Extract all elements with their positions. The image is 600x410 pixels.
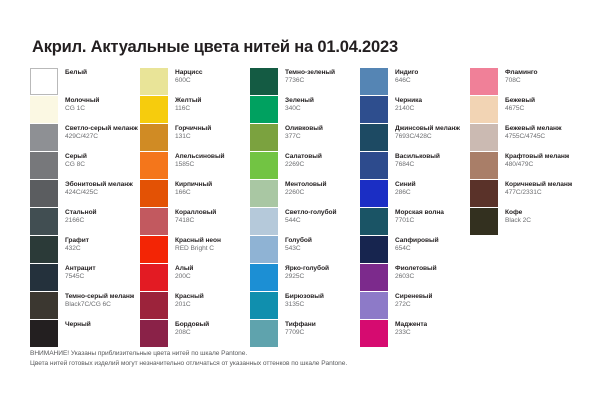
swatch-labels: Синий 286C <box>388 180 416 198</box>
swatch-row: Индиго 646C <box>360 68 470 96</box>
swatch-row: Бежевый 4675C <box>470 96 588 124</box>
color-name: Молочный <box>65 97 99 105</box>
swatch-labels: Морская волна 7701C <box>388 208 444 226</box>
swatch-row: Ментоловый 2260C <box>250 180 360 208</box>
swatch-row: Черника 2140C <box>360 96 470 124</box>
color-code: 2925C <box>285 273 329 281</box>
color-code: 654C <box>395 245 439 253</box>
color-name: Крафтовый меланж <box>505 153 569 161</box>
color-name: Серый <box>65 153 87 161</box>
color-code: 4755C/4745C <box>505 133 562 141</box>
color-code: 432C <box>65 245 89 253</box>
color-chip <box>470 96 498 123</box>
color-code: 424C/425C <box>65 189 133 197</box>
color-name: Коралловый <box>175 209 216 217</box>
swatch-labels: Коралловый 7418C <box>168 208 216 226</box>
swatch-row: Синий 286C <box>360 180 470 208</box>
color-code: 166C <box>175 189 212 197</box>
color-name: Желтый <box>175 97 201 105</box>
color-name: Зеленый <box>285 97 314 105</box>
swatch-labels: Сапфировый 654C <box>388 236 439 254</box>
swatch-labels: Молочный CG 1C <box>58 96 99 114</box>
color-chip <box>250 264 278 291</box>
color-code: 201C <box>175 301 204 309</box>
swatch-labels: Кофе Black 2C <box>498 208 531 226</box>
swatch-row: Эбонитовый меланж 424C/425C <box>30 180 140 208</box>
color-chip <box>360 320 388 347</box>
swatch-labels: Желтый 116C <box>168 96 201 114</box>
color-chip <box>360 208 388 235</box>
color-code: 480/479C <box>505 161 569 169</box>
color-chip <box>360 124 388 151</box>
swatch-row: Кирпичный 166C <box>140 180 250 208</box>
swatch-labels: Апельсиновый 1585C <box>168 152 225 170</box>
color-name: Горчичный <box>175 125 211 133</box>
swatch-row: Бирюзовый 3135C <box>250 292 360 320</box>
swatch-labels: Горчичный 131C <box>168 124 211 142</box>
swatch-labels: Ярко-голубой 2925C <box>278 264 329 282</box>
color-chip <box>140 208 168 235</box>
swatch-row: Маджента 233C <box>360 320 470 348</box>
color-code: 340C <box>285 105 314 113</box>
color-name: Салатовый <box>285 153 322 161</box>
swatch-row: Желтый 116C <box>140 96 250 124</box>
color-chip <box>360 68 388 95</box>
color-name: Белый <box>65 69 87 77</box>
swatch-labels: Коричневый меланж 477C/2331C <box>498 180 572 198</box>
color-name: Бордовый <box>175 321 209 329</box>
color-code: 477C/2331C <box>505 189 572 197</box>
color-chip <box>360 264 388 291</box>
swatch-labels: Стальной 2166C <box>58 208 97 226</box>
swatch-labels: Бежевый меланж 4755C/4745C <box>498 124 562 142</box>
color-code: 208C <box>175 329 209 337</box>
color-chip <box>250 236 278 263</box>
color-chip <box>250 124 278 151</box>
color-name: Маджента <box>395 321 427 329</box>
color-code: 7736C <box>285 77 335 85</box>
color-name: Бирюзовый <box>285 293 324 301</box>
color-name: Ярко-голубой <box>285 265 329 273</box>
color-chip <box>250 208 278 235</box>
swatch-row: Коричневый меланж 477C/2331C <box>470 180 588 208</box>
color-name: Индиго <box>395 69 418 77</box>
swatch-labels: Зеленый 340C <box>278 96 314 114</box>
swatch-labels: Крафтовый меланж 480/479C <box>498 152 569 170</box>
color-name: Бежевый меланж <box>505 125 562 133</box>
swatch-column-warm: Нарцисс 600C Желтый 116C Горчичный 131C <box>140 68 250 348</box>
swatch-labels: Бордовый 208C <box>168 320 209 338</box>
color-name: Джинсовый меланж <box>395 125 460 133</box>
color-chip <box>140 96 168 123</box>
color-chart-page: Акрил. Актуальные цвета нитей на 01.04.2… <box>0 0 600 410</box>
color-chip <box>250 152 278 179</box>
color-chip <box>140 320 168 347</box>
color-code: 1585C <box>175 161 225 169</box>
swatch-row: Молочный CG 1C <box>30 96 140 124</box>
color-chip <box>30 68 58 95</box>
color-chip <box>470 208 498 235</box>
swatch-labels: Маджента 233C <box>388 320 427 338</box>
color-code: Black 2C <box>505 217 531 225</box>
color-chip <box>360 152 388 179</box>
color-chip <box>30 320 58 347</box>
color-name: Голубой <box>285 237 312 245</box>
color-chip <box>140 152 168 179</box>
swatch-row: Сиреневый 272C <box>360 292 470 320</box>
color-chip <box>470 180 498 207</box>
color-chip <box>140 292 168 319</box>
swatch-row: Алый 200C <box>140 264 250 292</box>
swatch-labels: Бежевый 4675C <box>498 96 535 114</box>
color-name: Бежевый <box>505 97 535 105</box>
color-code: 708C <box>505 77 538 85</box>
color-code: 116C <box>175 105 201 113</box>
swatch-row: Коралловый 7418C <box>140 208 250 236</box>
color-code: 7701C <box>395 217 444 225</box>
swatch-row: Зеленый 340C <box>250 96 360 124</box>
color-name: Синий <box>395 181 416 189</box>
swatch-labels: Темно-серый меланж Black7C/CG 6C <box>58 292 134 310</box>
color-name: Кофе <box>505 209 531 217</box>
color-name: Сапфировый <box>395 237 439 245</box>
color-name: Кирпичный <box>175 181 212 189</box>
swatch-labels: Тиффани 7709C <box>278 320 316 338</box>
swatch-row: Апельсиновый 1585C <box>140 152 250 180</box>
swatch-labels: Графит 432C <box>58 236 89 254</box>
color-chip <box>140 180 168 207</box>
swatch-row: Серый CG 8C <box>30 152 140 180</box>
color-name: Алый <box>175 265 193 273</box>
color-chip <box>250 180 278 207</box>
color-name: Графит <box>65 237 89 245</box>
swatch-labels: Ментоловый 2260C <box>278 180 327 198</box>
swatch-labels: Салатовый 2269C <box>278 152 322 170</box>
swatch-row: Антрацит 7545C <box>30 264 140 292</box>
color-code: 4675C <box>505 105 535 113</box>
swatch-labels: Васильковый 7684C <box>388 152 440 170</box>
swatch-row: Горчичный 131C <box>140 124 250 152</box>
swatch-labels: Светло-серый меланж 429C/427C <box>58 124 138 142</box>
swatch-row: Фламинго 708C <box>470 68 588 96</box>
color-code: 2269C <box>285 161 322 169</box>
swatch-row: Голубой 543C <box>250 236 360 264</box>
color-name: Морская волна <box>395 209 444 217</box>
color-name: Стальной <box>65 209 97 217</box>
swatch-labels: Фламинго 708C <box>498 68 538 86</box>
color-code: 3135C <box>285 301 324 309</box>
color-chip <box>30 208 58 235</box>
swatch-labels: Фиолетовый 2603C <box>388 264 437 282</box>
color-chip <box>30 292 58 319</box>
color-code: Black7C/CG 6C <box>65 301 134 309</box>
color-chip <box>140 124 168 151</box>
color-chip <box>360 236 388 263</box>
swatch-row: Светло-голубой 544C <box>250 208 360 236</box>
color-code: 543C <box>285 245 312 253</box>
color-chip <box>470 152 498 179</box>
swatch-column-greens: Темно-зеленый 7736C Зеленый 340C Оливков… <box>250 68 360 348</box>
color-chip <box>250 68 278 95</box>
color-chip <box>470 124 498 151</box>
color-code: 233C <box>395 329 427 337</box>
color-name: Светло-серый меланж <box>65 125 138 133</box>
color-name: Коричневый меланж <box>505 181 572 189</box>
swatch-labels: Голубой 543C <box>278 236 312 254</box>
color-code: 544C <box>285 217 337 225</box>
color-chip <box>30 152 58 179</box>
swatch-labels: Кирпичный 166C <box>168 180 212 198</box>
swatch-row: Салатовый 2269C <box>250 152 360 180</box>
swatch-labels: Черника 2140C <box>388 96 422 114</box>
color-code: 377C <box>285 133 323 141</box>
swatch-labels: Красный неон RED Bright C <box>168 236 221 254</box>
color-code: 7693C/428C <box>395 133 460 141</box>
swatch-row: Фиолетовый 2603C <box>360 264 470 292</box>
swatch-row: Красный неон RED Bright C <box>140 236 250 264</box>
disclaimer-line-1: ВНИМАНИЕ! Указаны приблизительные цвета … <box>30 349 347 359</box>
color-code: 2603C <box>395 273 437 281</box>
swatch-row: Морская волна 7701C <box>360 208 470 236</box>
color-code: 286C <box>395 189 416 197</box>
color-code: 7545C <box>65 273 96 281</box>
swatch-row: Васильковый 7684C <box>360 152 470 180</box>
disclaimer-line-2: Цвета нитей готовых изделий могут незнач… <box>30 359 347 369</box>
swatch-column-neutrals: Фламинго 708C Бежевый 4675C Бежевый мела… <box>470 68 588 348</box>
swatch-labels: Черный <box>58 320 91 329</box>
color-chip <box>360 180 388 207</box>
swatch-column-grays: Белый Молочный CG 1C Светло-серый меланж… <box>30 68 140 348</box>
swatch-row: Белый <box>30 68 140 96</box>
swatch-row: Светло-серый меланж 429C/427C <box>30 124 140 152</box>
swatch-labels: Бирюзовый 3135C <box>278 292 324 310</box>
color-code: 2260C <box>285 189 327 197</box>
color-code: 2140C <box>395 105 422 113</box>
swatch-labels: Сиреневый 272C <box>388 292 432 310</box>
swatch-row: Джинсовый меланж 7693C/428C <box>360 124 470 152</box>
color-chip <box>250 292 278 319</box>
swatch-labels: Темно-зеленый 7736C <box>278 68 335 86</box>
swatch-labels: Алый 200C <box>168 264 193 282</box>
swatch-labels: Нарцисс 600C <box>168 68 203 86</box>
color-code: RED Bright C <box>175 245 221 253</box>
color-name: Темно-зеленый <box>285 69 335 77</box>
color-name: Красный неон <box>175 237 221 245</box>
color-chip <box>30 236 58 263</box>
color-code: 7709C <box>285 329 316 337</box>
color-chip <box>470 68 498 95</box>
disclaimer: ВНИМАНИЕ! Указаны приблизительные цвета … <box>30 349 347 368</box>
swatch-labels: Светло-голубой 544C <box>278 208 337 226</box>
swatch-labels: Индиго 646C <box>388 68 418 86</box>
swatch-labels: Серый CG 8C <box>58 152 87 170</box>
color-code: 200C <box>175 273 193 281</box>
swatch-row: Ярко-голубой 2925C <box>250 264 360 292</box>
color-name: Антрацит <box>65 265 96 273</box>
color-chip <box>140 236 168 263</box>
color-code: 600C <box>175 77 203 85</box>
swatch-labels: Белый <box>58 68 87 77</box>
color-chip <box>250 320 278 347</box>
page-title: Акрил. Актуальные цвета нитей на 01.04.2… <box>32 38 398 57</box>
color-name: Оливковый <box>285 125 323 133</box>
color-code: 429C/427C <box>65 133 138 141</box>
color-chip <box>250 96 278 123</box>
color-name: Ментоловый <box>285 181 327 189</box>
color-name: Апельсиновый <box>175 153 225 161</box>
swatch-row: Крафтовый меланж 480/479C <box>470 152 588 180</box>
color-name: Эбонитовый меланж <box>65 181 133 189</box>
color-code: CG 8C <box>65 161 87 169</box>
color-chip <box>360 292 388 319</box>
swatch-row: Графит 432C <box>30 236 140 264</box>
swatch-row: Нарцисс 600C <box>140 68 250 96</box>
color-name: Фламинго <box>505 69 538 77</box>
color-name: Фиолетовый <box>395 265 437 273</box>
color-code: CG 1C <box>65 105 99 113</box>
color-chip <box>30 124 58 151</box>
swatch-labels: Джинсовый меланж 7693C/428C <box>388 124 460 142</box>
swatch-row: Сапфировый 654C <box>360 236 470 264</box>
color-code: 131C <box>175 133 211 141</box>
swatch-row: Бордовый 208C <box>140 320 250 348</box>
swatch-labels: Красный 201C <box>168 292 204 310</box>
color-code: 7684C <box>395 161 440 169</box>
color-name: Черника <box>395 97 422 105</box>
swatch-row: Темно-зеленый 7736C <box>250 68 360 96</box>
swatch-row: Темно-серый меланж Black7C/CG 6C <box>30 292 140 320</box>
color-name: Темно-серый меланж <box>65 293 134 301</box>
color-name: Черный <box>65 321 91 329</box>
swatch-labels: Эбонитовый меланж 424C/425C <box>58 180 133 198</box>
color-code: 7418C <box>175 217 216 225</box>
swatch-row: Кофе Black 2C <box>470 208 588 236</box>
swatch-row: Тиффани 7709C <box>250 320 360 348</box>
color-code: 646C <box>395 77 418 85</box>
swatch-row: Стальной 2166C <box>30 208 140 236</box>
swatch-column-blues: Индиго 646C Черника 2140C Джинсовый мела… <box>360 68 470 348</box>
color-chip <box>360 96 388 123</box>
color-chip <box>140 264 168 291</box>
swatch-columns: Белый Молочный CG 1C Светло-серый меланж… <box>30 68 578 348</box>
color-name: Красный <box>175 293 204 301</box>
color-code: 272C <box>395 301 432 309</box>
color-name: Васильковый <box>395 153 440 161</box>
color-name: Светло-голубой <box>285 209 337 217</box>
color-code: 2166C <box>65 217 97 225</box>
color-chip <box>140 68 168 95</box>
swatch-labels: Оливковый 377C <box>278 124 323 142</box>
color-name: Нарцисс <box>175 69 203 77</box>
swatch-row: Красный 201C <box>140 292 250 320</box>
color-chip <box>30 180 58 207</box>
color-chip <box>30 264 58 291</box>
color-name: Тиффани <box>285 321 316 329</box>
swatch-row: Черный <box>30 320 140 348</box>
color-name: Сиреневый <box>395 293 432 301</box>
color-chip <box>30 96 58 123</box>
swatch-labels: Антрацит 7545C <box>58 264 96 282</box>
swatch-row: Оливковый 377C <box>250 124 360 152</box>
swatch-row: Бежевый меланж 4755C/4745C <box>470 124 588 152</box>
